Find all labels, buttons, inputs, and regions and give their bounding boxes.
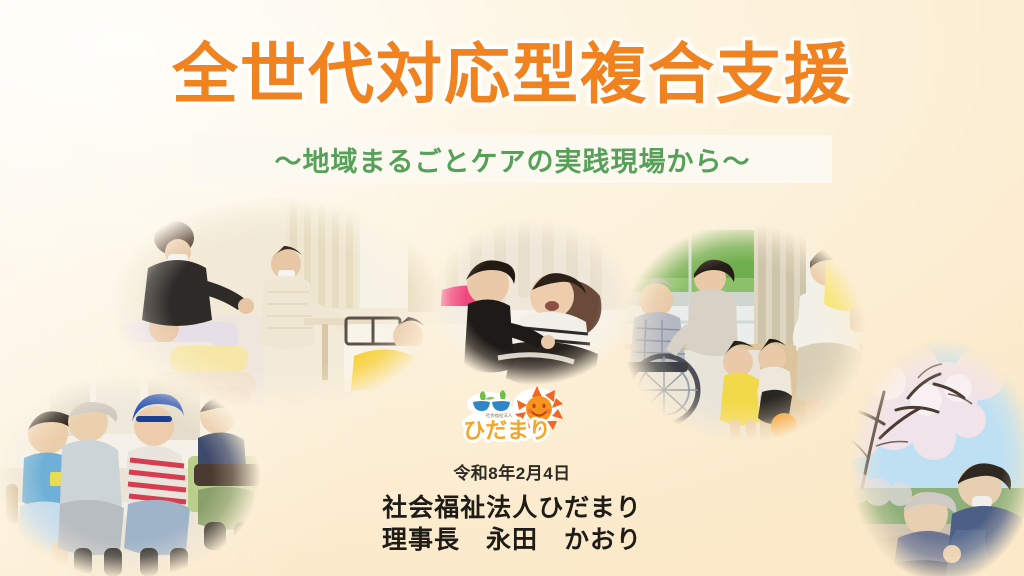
photo-window <box>620 222 868 444</box>
presentation-date: 令和8年2月4日 <box>0 459 1024 484</box>
presenter-name: 理事長 永田 かおり <box>0 524 1024 556</box>
presentation-title-slide: 全世代対応型複合支援 〜地域まるごとケアの実践現場から〜 <box>0 0 1024 576</box>
organization-block: 社会福祉法人ひだまり 理事長 永田 かおり <box>0 492 1024 556</box>
photo-child-art <box>428 218 636 386</box>
page-title: 全世代対応型複合支援 <box>172 38 852 112</box>
photo-child <box>428 218 636 386</box>
logo-wordmark: ひだまり <box>463 418 551 443</box>
organization-name: 社会福祉法人ひだまり <box>0 492 1024 524</box>
hidamari-logo: 社会福祉法人 ひだまり ひだまり <box>455 386 567 444</box>
title-container: 全世代対応型複合支援 <box>0 38 1024 112</box>
photo-window-art <box>620 222 868 444</box>
page-subtitle: 〜地域まるごとケアの実践現場から〜 <box>275 140 751 179</box>
subtitle-band: 〜地域まるごとケアの実践現場から〜 <box>193 135 832 183</box>
hidamari-sun-icon: 社会福祉法人 ひだまり ひだまり <box>455 386 567 444</box>
